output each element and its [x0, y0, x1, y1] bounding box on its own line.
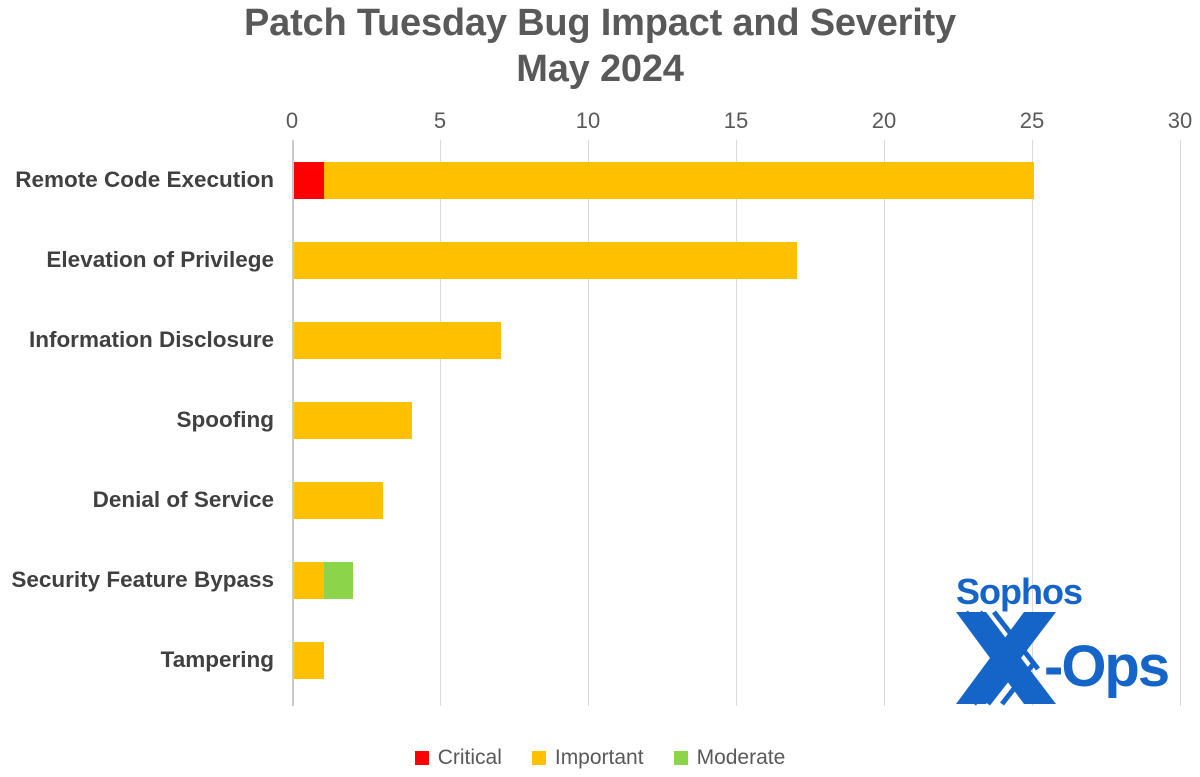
category-label-elevation-of-privilege: Elevation of Privilege: [0, 220, 274, 300]
page-title: Patch Tuesday Bug Impact and Severity Ma…: [0, 0, 1200, 92]
legend-label-moderate: Moderate: [697, 746, 786, 770]
chart-title-line-1: Patch Tuesday Bug Impact and Severity: [0, 0, 1200, 46]
stacked-bar[interactable]: [294, 482, 1182, 519]
bar-segment-important[interactable]: [294, 322, 501, 359]
category-label-tampering: Tampering: [0, 620, 274, 700]
bar-segment-important[interactable]: [294, 642, 324, 679]
stacked-bar[interactable]: [294, 322, 1182, 359]
bar-row: Remote Code Execution: [0, 140, 1200, 220]
legend-swatch-important: [532, 751, 546, 765]
legend-swatch-moderate: [674, 751, 688, 765]
x-tick-label-15: 15: [724, 108, 748, 134]
bar-segment-important[interactable]: [294, 242, 797, 279]
bar-row: Elevation of Privilege: [0, 220, 1200, 300]
legend-item-critical[interactable]: Critical: [415, 746, 502, 770]
stacked-bar[interactable]: [294, 162, 1182, 199]
stacked-bar[interactable]: [294, 242, 1182, 279]
chart-title-line-2: May 2024: [0, 46, 1200, 92]
category-label-spoofing: Spoofing: [0, 380, 274, 460]
bar-segment-important[interactable]: [294, 562, 324, 599]
category-label-information-disclosure: Information Disclosure: [0, 300, 274, 380]
chart-legend: CriticalImportantModerate: [0, 746, 1200, 770]
bar-row: Spoofing: [0, 380, 1200, 460]
category-label-remote-code-execution: Remote Code Execution: [0, 140, 274, 220]
legend-item-moderate[interactable]: Moderate: [674, 746, 786, 770]
bar-segment-important[interactable]: [294, 482, 383, 519]
x-tick-label-10: 10: [576, 108, 600, 134]
legend-label-important: Important: [555, 746, 644, 770]
x-tick-label-25: 25: [1020, 108, 1044, 134]
legend-label-critical: Critical: [438, 746, 502, 770]
svg-text:Sophos: Sophos: [956, 571, 1082, 612]
bar-segment-important[interactable]: [324, 162, 1034, 199]
bar-row: Information Disclosure: [0, 300, 1200, 380]
x-axis-tick-labels: 051015202530: [0, 108, 1200, 136]
category-label-denial-of-service: Denial of Service: [0, 460, 274, 540]
x-tick-label-30: 30: [1168, 108, 1192, 134]
category-label-security-feature-bypass: Security Feature Bypass: [0, 540, 274, 620]
x-tick-label-20: 20: [872, 108, 896, 134]
svg-text:-Ops: -Ops: [1044, 634, 1168, 699]
bar-row: Denial of Service: [0, 460, 1200, 540]
legend-item-important[interactable]: Important: [532, 746, 644, 770]
x-tick-label-0: 0: [286, 108, 298, 134]
x-tick-label-5: 5: [434, 108, 446, 134]
legend-swatch-critical: [415, 751, 429, 765]
stacked-bar[interactable]: [294, 402, 1182, 439]
bar-segment-critical[interactable]: [294, 162, 324, 199]
bar-segment-important[interactable]: [294, 402, 412, 439]
sophos-x-ops-logo: Sophos -Ops: [948, 568, 1180, 708]
bar-segment-moderate[interactable]: [324, 562, 354, 599]
